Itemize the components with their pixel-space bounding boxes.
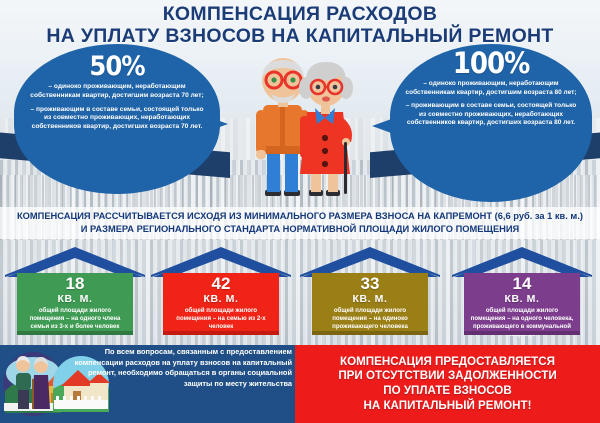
page-title: КОМПЕНСАЦИЯ РАСХОДОВ НА УПЛАТУ ВЗНОСОВ Н… bbox=[0, 4, 600, 48]
bubble-percent-100: 100% bbox=[403, 49, 579, 78]
bubble-50-paragraph-1: – одиноко проживающим, неработающим собс… bbox=[28, 83, 206, 101]
benefit-bubble-100: 100% – одиноко проживающим, неработающим… bbox=[390, 44, 592, 202]
house-unit-33: КВ. М. bbox=[317, 293, 423, 305]
bubble-50-paragraph-2: – проживающим в составе семьи, состоящей… bbox=[28, 106, 206, 132]
bubble-100-paragraph-1: – одиноко проживающим, неработающим собс… bbox=[403, 80, 579, 97]
house-body-18: 18 КВ. М. общей площади жилого помещения… bbox=[17, 273, 133, 335]
house-number-42: 42 bbox=[168, 275, 274, 292]
elderly-couple-illustration bbox=[243, 50, 361, 208]
house-body-14: 14 КВ. М. общей площади жилого помещения… bbox=[464, 273, 580, 335]
house-base-strip-18 bbox=[17, 331, 133, 335]
debt-warning-line-3: ПО УПЛАТЕ ВЗНОСОВ bbox=[338, 384, 556, 399]
house-card-14: 14 КВ. М. общей площади жилого помещения… bbox=[452, 247, 592, 335]
debt-warning-line-2: ПРИ ОТСУТСТВИИ ЗАДОЛЖЕННОСТИ bbox=[338, 369, 556, 384]
house-base-strip-14 bbox=[464, 331, 580, 335]
house-card-42: 42 КВ. М. общей площади жилого помещения… bbox=[151, 247, 291, 335]
house-number-18: 18 bbox=[22, 275, 128, 292]
house-desc-33: общей площади жилого помещения – на один… bbox=[317, 307, 423, 331]
house-number-33: 33 bbox=[317, 275, 423, 292]
debt-warning-text: КОМПЕНСАЦИЯ ПРЕДОСТАВЛЯЕТСЯ ПРИ ОТСУТСТВ… bbox=[338, 355, 556, 414]
house-unit-42: КВ. М. bbox=[168, 293, 274, 305]
debt-warning-line-4: НА КАПИТАЛЬНЫЙ РЕМОНТ! bbox=[338, 399, 556, 414]
calc-line-1: КОМПЕНСАЦИЯ РАССЧИТЫВАЕТСЯ ИСХОДЯ ИЗ МИН… bbox=[0, 210, 600, 223]
bubble-percent-50: 50% bbox=[28, 53, 206, 80]
house-card-33: 33 КВ. М. общей площади жилого помещения… bbox=[300, 247, 440, 335]
house-body-33: 33 КВ. М. общей площади жилого помещения… bbox=[312, 273, 428, 335]
infographic-poster: КОМПЕНСАЦИЯ РАСХОДОВ НА УПЛАТУ ВЗНОСОВ Н… bbox=[0, 0, 600, 423]
house-desc-42: общей площади жилого помещения – на семь… bbox=[168, 307, 274, 331]
benefit-bubble-50: 50% – одиноко проживающим, неработающим … bbox=[14, 44, 220, 194]
bottom-panels: По всем вопросам, связанным с предоставл… bbox=[0, 345, 600, 423]
contact-info-panel: По всем вопросам, связанным с предоставл… bbox=[0, 345, 295, 423]
bubble-100-paragraph-2: – проживающим в составе семьи, состоящей… bbox=[403, 102, 579, 128]
house-base-strip-33 bbox=[312, 331, 428, 335]
contact-info-text: По всем вопросам, связанным с предоставл… bbox=[62, 347, 295, 389]
debt-warning-line-1: КОМПЕНСАЦИЯ ПРЕДОСТАВЛЯЕТСЯ bbox=[338, 355, 556, 370]
title-line-1: КОМПЕНСАЦИЯ РАСХОДОВ bbox=[0, 4, 600, 26]
house-unit-18: КВ. М. bbox=[22, 293, 128, 305]
house-base-strip-42 bbox=[163, 331, 279, 335]
calc-line-2: И РАЗМЕРА РЕГИОНАЛЬНОГО СТАНДАРТА НОРМАТ… bbox=[0, 223, 600, 236]
calculation-banner: КОМПЕНСАЦИЯ РАССЧИТЫВАЕТСЯ ИСХОДЯ ИЗ МИН… bbox=[0, 207, 600, 239]
house-unit-14: КВ. М. bbox=[469, 293, 575, 305]
house-desc-18: общей площади жилого помещения – на одно… bbox=[22, 307, 128, 331]
debt-warning-panel: КОМПЕНСАЦИЯ ПРЕДОСТАВЛЯЕТСЯ ПРИ ОТСУТСТВ… bbox=[295, 345, 600, 423]
house-number-14: 14 bbox=[469, 275, 575, 292]
house-card-18: 18 КВ. М. общей площади жилого помещения… bbox=[5, 247, 145, 335]
house-body-42: 42 КВ. М. общей площади жилого помещения… bbox=[163, 273, 279, 335]
norm-area-house-cards: 18 КВ. М. общей площади жилого помещения… bbox=[0, 247, 600, 337]
